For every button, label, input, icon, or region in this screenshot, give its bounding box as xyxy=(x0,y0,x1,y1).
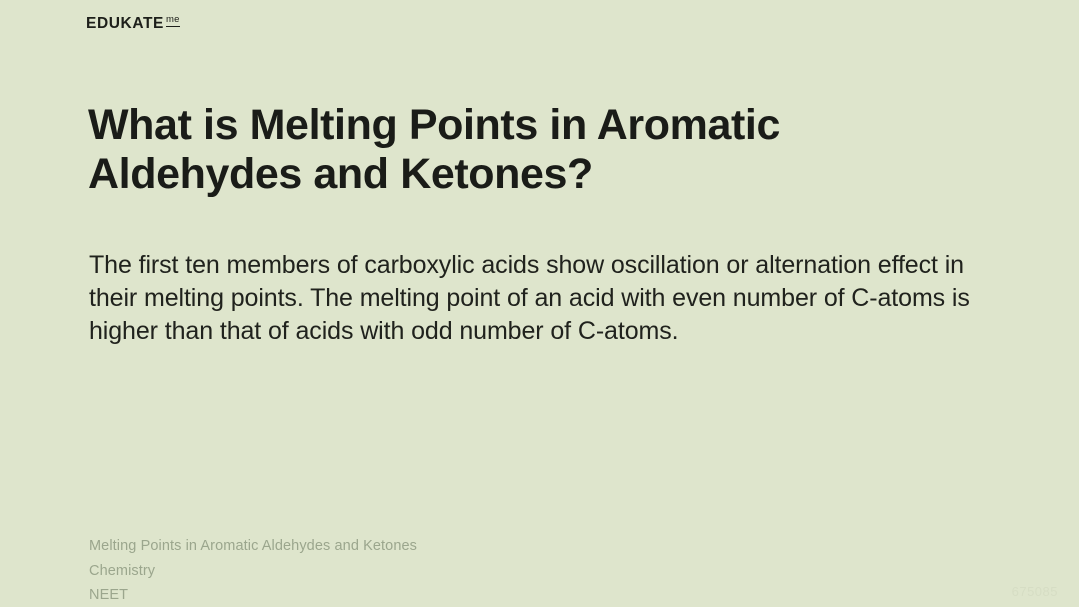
brand-logo-underline xyxy=(166,26,180,28)
footer-subject: Chemistry xyxy=(89,559,417,584)
brand-logo: EDUKATE me xyxy=(86,16,180,32)
slide-body-text: The first ten members of carboxylic acid… xyxy=(89,249,984,348)
brand-logo-superscript-text: me xyxy=(166,14,180,25)
slide-heading: What is Melting Points in Aromatic Aldeh… xyxy=(88,101,848,199)
footer-metadata: Melting Points in Aromatic Aldehydes and… xyxy=(89,534,417,608)
brand-logo-word: EDUKATE xyxy=(86,16,164,32)
brand-logo-superscript: me xyxy=(166,15,180,27)
slide-canvas: EDUKATE me What is Melting Points in Aro… xyxy=(0,0,1079,607)
footer-exam: NEET xyxy=(89,583,417,608)
footer-topic: Melting Points in Aromatic Aldehydes and… xyxy=(89,534,417,559)
watermark-id: 675085 xyxy=(1012,584,1058,599)
